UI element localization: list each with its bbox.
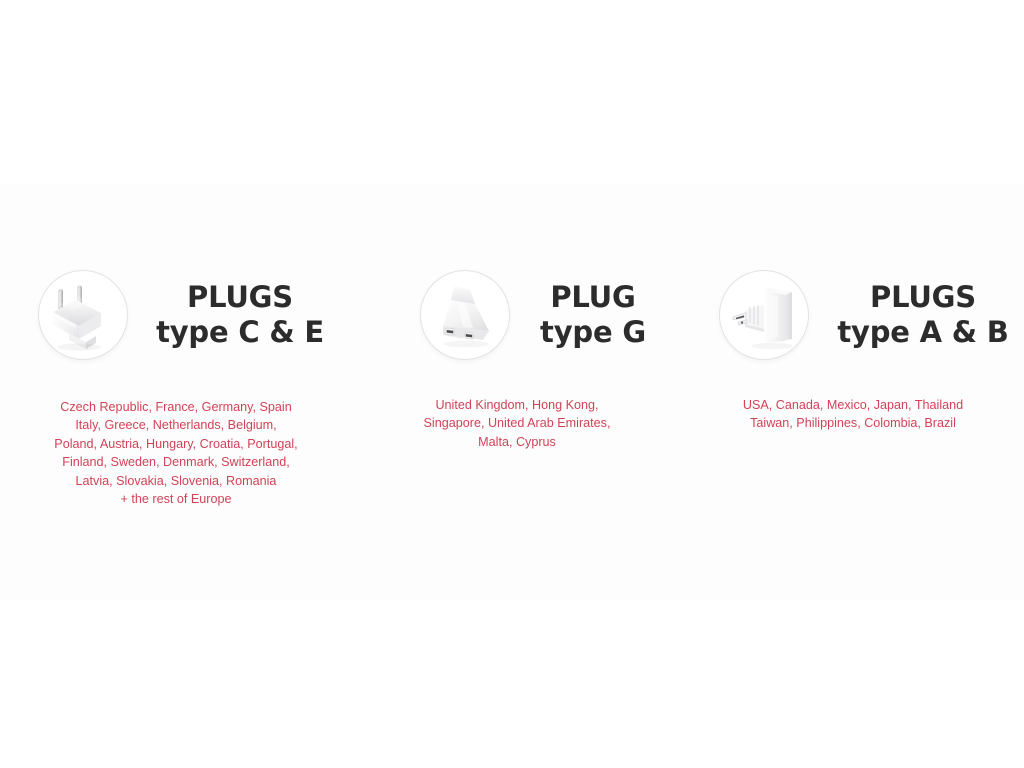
plug-title-sub: type A & B (837, 315, 1008, 350)
plug-column-header: PLUGS type C & E (0, 260, 352, 370)
plug-column-type-a-b: PLUGS type A & B USA, Canada, Mexico, Ja… (682, 260, 1024, 520)
plug-column-title: PLUGS type C & E (156, 280, 324, 351)
plug-column-title: PLUGS type A & B (837, 280, 1008, 351)
plug-column-type-c-e: PLUGS type C & E Czech Republic, France,… (0, 260, 352, 520)
plug-column-type-g: PLUG type G United Kingdom, Hong Kong, S… (352, 260, 682, 520)
plug-country-list: United Kingdom, Hong Kong, Singapore, Un… (352, 396, 682, 451)
plug-title-main: PLUG (540, 280, 646, 315)
plug-country-list: Czech Republic, France, Germany, Spain I… (0, 398, 352, 508)
plug-title-main: PLUGS (156, 280, 324, 315)
plug-column-header: PLUG type G (352, 260, 682, 370)
europlug-type-c-e-icon (38, 270, 128, 360)
plug-title-sub: type G (540, 315, 646, 350)
plug-country-list: USA, Canada, Mexico, Japan, Thailand Tai… (682, 396, 1024, 433)
uk-plug-type-g-icon (420, 270, 510, 360)
infographic-stage: PLUGS type C & E Czech Republic, France,… (0, 0, 1024, 768)
us-plug-type-a-b-icon (719, 270, 809, 360)
plug-type-columns: PLUGS type C & E Czech Republic, France,… (0, 260, 1024, 520)
plug-column-header: PLUGS type A & B (682, 260, 1024, 370)
plug-title-sub: type C & E (156, 315, 324, 350)
plug-column-title: PLUG type G (540, 280, 646, 351)
plug-title-main: PLUGS (837, 280, 1008, 315)
